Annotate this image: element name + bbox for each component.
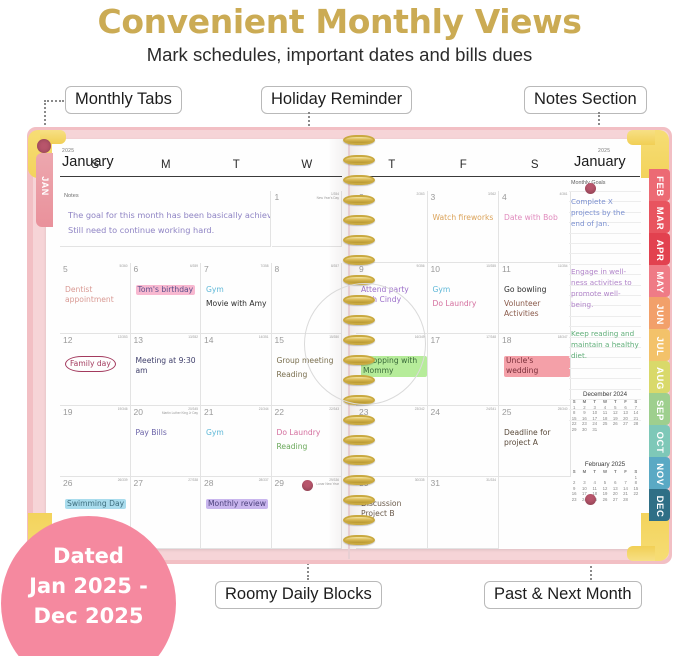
spiral-ring bbox=[341, 135, 377, 146]
spiral-ring bbox=[341, 235, 377, 246]
day-cell-5[interactable]: 55/360Dentist appointment bbox=[60, 263, 131, 335]
spiral-ring bbox=[341, 435, 377, 446]
day-meta: 16/349 bbox=[415, 335, 425, 339]
month-tab-dec-label: DEC bbox=[654, 489, 665, 521]
month-tab-jun[interactable]: JUN bbox=[649, 297, 670, 329]
month-tab-sep-label: SEP bbox=[654, 393, 665, 425]
day-event[interactable]: Do Laundry bbox=[277, 428, 340, 438]
month-tab-mar[interactable]: MAR bbox=[649, 201, 670, 233]
goal-rule-line bbox=[569, 316, 641, 317]
day-meta: 22/343 bbox=[329, 407, 339, 411]
day-number: 21 bbox=[204, 407, 213, 417]
mini-calendar-day: 27 bbox=[610, 498, 620, 504]
spiral-ring bbox=[341, 355, 377, 366]
day-cell-31[interactable]: 3131/334 bbox=[428, 477, 500, 549]
goal-rule-line bbox=[569, 378, 641, 379]
goal-rule-line bbox=[569, 253, 641, 254]
monthly-goal-3[interactable]: Keep reading and maintain a healthy diet… bbox=[571, 329, 639, 362]
elastic-corner-bottom-right-strap bbox=[627, 546, 655, 561]
day-event[interactable]: Tom's birthday bbox=[136, 285, 196, 295]
month-tab-may-label: MAY bbox=[654, 265, 665, 297]
mini-calendar-day bbox=[610, 428, 620, 434]
goal-rule-line bbox=[569, 389, 641, 390]
notes-section[interactable]: Notes The goal for this month has been b… bbox=[60, 191, 271, 247]
day-meta: 18/347 bbox=[558, 335, 568, 339]
month-tab-feb[interactable]: FEB bbox=[649, 169, 670, 201]
day-number: 20 bbox=[134, 407, 143, 417]
monthly-goal-1[interactable]: Complete X projects by the end of Jan. bbox=[571, 197, 639, 230]
spiral-ring bbox=[341, 475, 377, 486]
day-event[interactable]: Pay Bills bbox=[136, 428, 199, 438]
day-meta: 9/356 bbox=[417, 264, 425, 268]
day-cell-12[interactable]: 1212/353Family day bbox=[60, 334, 131, 406]
day-event[interactable]: Gym bbox=[206, 285, 269, 295]
mini-calendar-day bbox=[631, 428, 641, 434]
day-meta: 6/359 bbox=[190, 264, 198, 268]
mini-calendar-title: February 2025 bbox=[569, 461, 641, 468]
day-cell-22[interactable]: 2222/343Do LaundryReading bbox=[272, 406, 343, 478]
mini-calendar-title: December 2024 bbox=[569, 391, 641, 398]
day-event[interactable]: Do Laundry bbox=[433, 299, 497, 309]
day-number: 24 bbox=[431, 407, 440, 417]
day-event[interactable]: Meeting at 9:30 am bbox=[136, 356, 199, 377]
left-header-rule bbox=[60, 176, 342, 177]
day-event[interactable]: Deadline for project A bbox=[504, 428, 568, 449]
day-event[interactable]: Volunteer Activities bbox=[504, 299, 568, 320]
day-number: 17 bbox=[431, 335, 440, 345]
day-cell-18[interactable]: 1818/347Uncle's wedding bbox=[499, 334, 571, 406]
day-event[interactable]: Gym bbox=[206, 428, 269, 438]
day-number: 6 bbox=[134, 264, 139, 274]
day-meta: 31/334 bbox=[486, 478, 496, 482]
elastic-corner-top-right-strap bbox=[627, 130, 655, 145]
day-event[interactable]: Dentist appointment bbox=[65, 285, 128, 306]
day-event[interactable]: Family day bbox=[65, 356, 116, 372]
month-tab-nov-label: NOV bbox=[654, 457, 665, 489]
month-tab-oct[interactable]: OCT bbox=[649, 425, 670, 457]
monthly-goal-2[interactable]: Engage in well-ness activities to promot… bbox=[571, 267, 639, 311]
day-number: 19 bbox=[63, 407, 72, 417]
spiral-ring bbox=[341, 195, 377, 206]
spiral-ring bbox=[341, 175, 377, 186]
dated-badge-line3: Dec 2025 bbox=[1, 602, 176, 632]
month-tab-oct-label: OCT bbox=[654, 425, 665, 457]
day-meta: 12/353 bbox=[118, 335, 128, 339]
day-meta: 4/361 bbox=[560, 192, 568, 196]
day-cell-21[interactable]: 2121/344Gym bbox=[201, 406, 272, 478]
spiral-ring bbox=[341, 495, 377, 506]
month-tab-dec[interactable]: DEC bbox=[649, 489, 670, 521]
callout-notes-section: Notes Section bbox=[524, 86, 647, 114]
day-cell-13[interactable]: 1313/352Meeting at 9:30 am bbox=[131, 334, 202, 406]
spiral-ring bbox=[341, 215, 377, 226]
day-number: 27 bbox=[134, 478, 143, 488]
mini-calendar-2: February 2025SMTWTFS12345678910111213141… bbox=[569, 461, 641, 503]
spiral-ring bbox=[341, 275, 377, 286]
goal-rule-line bbox=[569, 191, 641, 192]
day-cell-3[interactable]: 33/362Watch fireworks bbox=[428, 191, 500, 263]
dow-header-left-3: W bbox=[272, 159, 343, 171]
day-cell-4[interactable]: 44/361Date with Bob bbox=[499, 191, 571, 263]
day-meta: 7/358 bbox=[261, 264, 269, 268]
day-number: 15 bbox=[275, 335, 284, 345]
goal-rule-line bbox=[569, 243, 641, 244]
day-number: 18 bbox=[502, 335, 511, 345]
day-cell-8[interactable]: 88/357 bbox=[272, 263, 343, 335]
day-meta: 24/341 bbox=[486, 407, 496, 411]
day-cell-7[interactable]: 77/358GymMovie with Amy bbox=[201, 263, 272, 335]
mini-calendar-day: 30 bbox=[579, 428, 589, 434]
mini-calendar-day: 31 bbox=[590, 428, 600, 434]
dated-badge-line2: Jan 2025 - bbox=[1, 572, 176, 602]
day-meta: 28/337 bbox=[259, 478, 269, 482]
day-meta: 10/355 bbox=[486, 264, 496, 268]
mini-calendar-day bbox=[600, 428, 610, 434]
day-cell-28[interactable]: 2828/337Monthly review bbox=[201, 477, 272, 549]
dow-header-left-1: M bbox=[131, 159, 202, 171]
month-tab-may[interactable]: MAY bbox=[649, 265, 670, 297]
day-cell-24[interactable]: 2424/341 bbox=[428, 406, 500, 478]
day-number: 22 bbox=[275, 407, 284, 417]
dated-badge-text: Dated Jan 2025 - Dec 2025 bbox=[1, 542, 176, 631]
spiral-ring bbox=[341, 515, 377, 526]
goal-rule-line bbox=[569, 326, 641, 327]
spiral-ring bbox=[341, 255, 377, 266]
dow-header-right-2: S bbox=[499, 159, 571, 171]
day-meta: 30/335 bbox=[415, 478, 425, 482]
month-tab-jul[interactable]: JUL bbox=[649, 329, 670, 361]
day-meta: 3/362 bbox=[488, 192, 496, 196]
day-number: 3 bbox=[431, 192, 436, 202]
day-number: 4 bbox=[502, 192, 507, 202]
dow-header-right-1: F bbox=[428, 159, 500, 171]
day-number: 28 bbox=[204, 478, 213, 488]
day-meta: 11/354 bbox=[558, 264, 568, 268]
leader-line-monthly-tabs-h bbox=[44, 100, 64, 102]
day-event[interactable]: Date with Bob bbox=[504, 213, 568, 223]
holiday-marker-dot bbox=[302, 480, 313, 491]
notes-text: The goal for this month has been basical… bbox=[68, 208, 271, 238]
day-meta: 15/350 bbox=[329, 335, 339, 339]
callout-roomy-daily-blocks: Roomy Daily Blocks bbox=[215, 581, 382, 609]
past-next-month-marker-dot bbox=[585, 494, 596, 505]
day-number: 7 bbox=[204, 264, 209, 274]
day-meta: 20/345Martin Luther King Jr Day bbox=[162, 407, 198, 415]
dow-header-left-0: S bbox=[60, 159, 131, 171]
day-number: 25 bbox=[502, 407, 511, 417]
day-meta: 29/336Lunar New Year bbox=[316, 478, 339, 486]
day-event[interactable]: Uncle's wedding bbox=[504, 356, 570, 377]
month-tab-mar-label: MAR bbox=[654, 201, 665, 233]
day-event[interactable]: Group meeting bbox=[277, 356, 340, 366]
day-number: 14 bbox=[204, 335, 213, 345]
month-tab-jan-label: JAN bbox=[40, 163, 50, 209]
dow-header-left-2: T bbox=[201, 159, 272, 171]
day-meta: 25/340 bbox=[558, 407, 568, 411]
day-number: 31 bbox=[431, 478, 440, 488]
day-event[interactable]: Monthly review bbox=[206, 499, 268, 509]
mini-calendar-1: December 2024SMTWTFS12345678910111213141… bbox=[569, 391, 641, 433]
month-tab-jul-label: JUL bbox=[654, 329, 665, 361]
dated-badge-line1: Dated bbox=[1, 542, 176, 572]
day-meta: 2/363 bbox=[417, 192, 425, 196]
notes-section-marker-dot bbox=[585, 183, 596, 194]
spiral-ring bbox=[341, 155, 377, 166]
month-tab-apr-label: APR bbox=[654, 233, 665, 265]
month-tab-aug[interactable]: AUG bbox=[649, 361, 670, 393]
day-number: 12 bbox=[63, 335, 72, 345]
callout-past-next-month: Past & Next Month bbox=[484, 581, 642, 609]
monthly-tabs-marker-dot bbox=[37, 139, 51, 153]
day-number: 26 bbox=[63, 478, 72, 488]
day-cell-19[interactable]: 1919/346 bbox=[60, 406, 131, 478]
mini-calendar-day: 29 bbox=[569, 428, 579, 434]
planner-book: JAN FEBMARAPRMAYJUNJULAUGSEPOCTNOVDEC 20… bbox=[27, 127, 672, 564]
day-number: 5 bbox=[63, 264, 68, 274]
day-number: 11 bbox=[502, 264, 511, 274]
day-meta: 8/357 bbox=[331, 264, 339, 268]
month-tab-sep[interactable]: SEP bbox=[649, 393, 670, 425]
day-cell-10[interactable]: 1010/355GymDo Laundry bbox=[428, 263, 500, 335]
day-meta: 21/344 bbox=[259, 407, 269, 411]
spiral-ring bbox=[341, 335, 377, 346]
day-number: 29 bbox=[275, 478, 284, 488]
day-event[interactable]: Reading bbox=[277, 442, 340, 452]
mini-calendar-day: 23 bbox=[569, 498, 579, 504]
page-title: Convenient Monthly Views bbox=[0, 2, 679, 41]
right-page-month: January bbox=[574, 154, 626, 170]
spiral-ring bbox=[341, 535, 377, 546]
day-meta: 14/351 bbox=[259, 335, 269, 339]
month-tab-nov[interactable]: NOV bbox=[649, 457, 670, 489]
month-tabs-right[interactable]: FEBMARAPRMAYJUNJULAUGSEPOCTNOVDEC bbox=[649, 169, 670, 521]
day-meta: 27/338 bbox=[188, 478, 198, 482]
spiral-ring bbox=[341, 315, 377, 326]
day-cell-11[interactable]: 1111/354Go bowlingVolunteer Activities bbox=[499, 263, 571, 335]
planner-pages: 2025 January SMTW 11/354New Year's Day55… bbox=[46, 139, 654, 549]
mini-calendar-day: 28 bbox=[620, 498, 630, 504]
callout-monthly-tabs: Monthly Tabs bbox=[65, 86, 182, 114]
day-event[interactable]: Go bowling bbox=[504, 285, 568, 295]
spiral-binding bbox=[341, 135, 379, 555]
spiral-ring bbox=[341, 395, 377, 406]
goal-rule-line bbox=[569, 264, 641, 265]
day-number: 13 bbox=[134, 335, 143, 345]
day-event[interactable]: Reading bbox=[277, 370, 340, 380]
page-right: 2025 January TFS 22/36333/362Watch firew… bbox=[350, 139, 654, 549]
day-event[interactable]: Movie with Amy bbox=[206, 299, 269, 309]
day-meta: 23/342 bbox=[415, 407, 425, 411]
day-cell-17[interactable]: 1717/348 bbox=[428, 334, 500, 406]
mini-calendar-day: 26 bbox=[600, 498, 610, 504]
day-number: 8 bbox=[275, 264, 280, 274]
day-meta: 13/352 bbox=[188, 335, 198, 339]
month-tab-apr[interactable]: APR bbox=[649, 233, 670, 265]
month-tab-jan[interactable]: JAN bbox=[36, 153, 53, 227]
goal-rule-line bbox=[569, 368, 641, 369]
spiral-ring bbox=[341, 295, 377, 306]
month-tab-jun-label: JUN bbox=[654, 297, 665, 329]
day-cell-15[interactable]: 1515/350Group meetingReading bbox=[272, 334, 343, 406]
right-header-rule bbox=[356, 176, 640, 177]
page-subtitle: Mark schedules, important dates and bill… bbox=[0, 44, 679, 66]
day-number: 10 bbox=[431, 264, 440, 274]
notes-label: Notes bbox=[64, 193, 79, 199]
day-cell-1[interactable]: 11/354New Year's Day bbox=[272, 191, 343, 247]
day-event[interactable]: Watch fireworks bbox=[433, 213, 497, 223]
day-cell-25[interactable]: 2525/340Deadline for project A bbox=[499, 406, 571, 478]
spiral-ring bbox=[341, 455, 377, 466]
day-meta: 1/354New Year's Day bbox=[317, 192, 339, 200]
spiral-ring bbox=[341, 415, 377, 426]
day-meta: 17/348 bbox=[486, 335, 496, 339]
spiral-ring bbox=[341, 375, 377, 386]
callout-holiday-reminder: Holiday Reminder bbox=[261, 86, 412, 114]
day-cell-14[interactable]: 1414/351 bbox=[201, 334, 272, 406]
mini-calendar-day bbox=[620, 428, 630, 434]
month-tab-aug-label: AUG bbox=[654, 361, 665, 393]
day-meta: 5/360 bbox=[120, 264, 128, 268]
day-meta: 26/339 bbox=[118, 478, 128, 482]
mini-calendar-day bbox=[631, 498, 641, 504]
day-meta: 19/346 bbox=[118, 407, 128, 411]
day-number: 1 bbox=[275, 192, 280, 202]
day-cell-6[interactable]: 66/359Tom's birthday bbox=[131, 263, 202, 335]
day-event[interactable]: Gym bbox=[433, 285, 497, 295]
day-event[interactable]: Swimming Day bbox=[65, 499, 126, 509]
month-tab-feb-label: FEB bbox=[654, 169, 665, 201]
goal-rule-line bbox=[569, 233, 641, 234]
day-cell-20[interactable]: 2020/345Martin Luther King Jr DayPay Bil… bbox=[131, 406, 202, 478]
